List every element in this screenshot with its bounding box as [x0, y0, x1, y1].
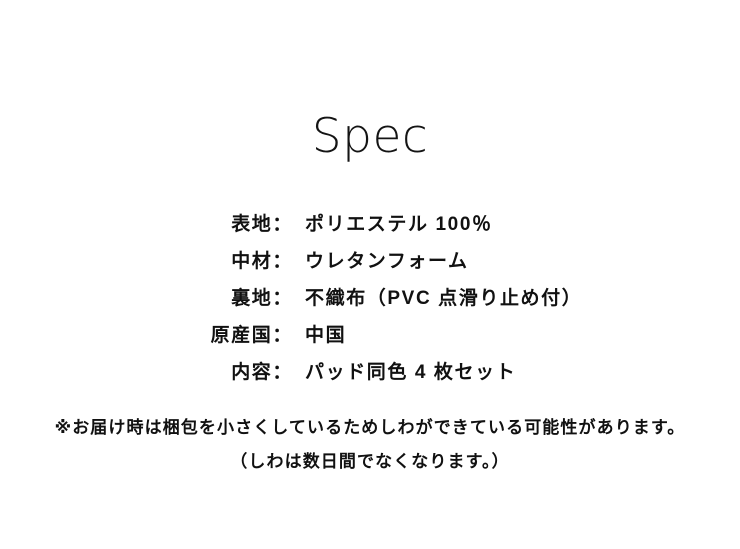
spec-value-outer-fabric: ポリエステル 100％	[305, 206, 493, 243]
spec-row: 表地： ポリエステル 100％	[0, 206, 740, 243]
spec-list: 表地： ポリエステル 100％ 中材： ウレタンフォーム 裏地： 不織布（PVC…	[0, 206, 740, 391]
note-line-wrinkle-resolution: （しわは数日間でなくなります。）	[0, 445, 740, 479]
spec-label-contents: 内容：	[0, 354, 293, 391]
spec-label-filling: 中材：	[0, 243, 293, 280]
spec-row: 内容： パッド同色 4 枚セット	[0, 354, 740, 391]
spec-row: 原産国： 中国	[0, 317, 740, 354]
spec-page: Spec 表地： ポリエステル 100％ 中材： ウレタンフォーム 裏地： 不織…	[0, 0, 740, 549]
spec-label-country-of-origin: 原産国：	[0, 317, 293, 354]
note-block: ※お届け時は梱包を小さくしているためしわができている可能性があります。 （しわは…	[0, 411, 740, 479]
page-title: Spec	[0, 108, 740, 166]
spec-value-backing: 不織布（PVC 点滑り止め付）	[305, 280, 582, 317]
spec-row: 裏地： 不織布（PVC 点滑り止め付）	[0, 280, 740, 317]
spec-row: 中材： ウレタンフォーム	[0, 243, 740, 280]
spec-value-contents: パッド同色 4 枚セット	[305, 354, 516, 391]
note-line-wrinkle-warning: ※お届け時は梱包を小さくしているためしわができている可能性があります。	[0, 411, 740, 445]
spec-label-outer-fabric: 表地：	[0, 206, 293, 243]
spec-value-country-of-origin: 中国	[305, 317, 346, 354]
spec-label-backing: 裏地：	[0, 280, 293, 317]
spec-value-filling: ウレタンフォーム	[305, 243, 469, 280]
